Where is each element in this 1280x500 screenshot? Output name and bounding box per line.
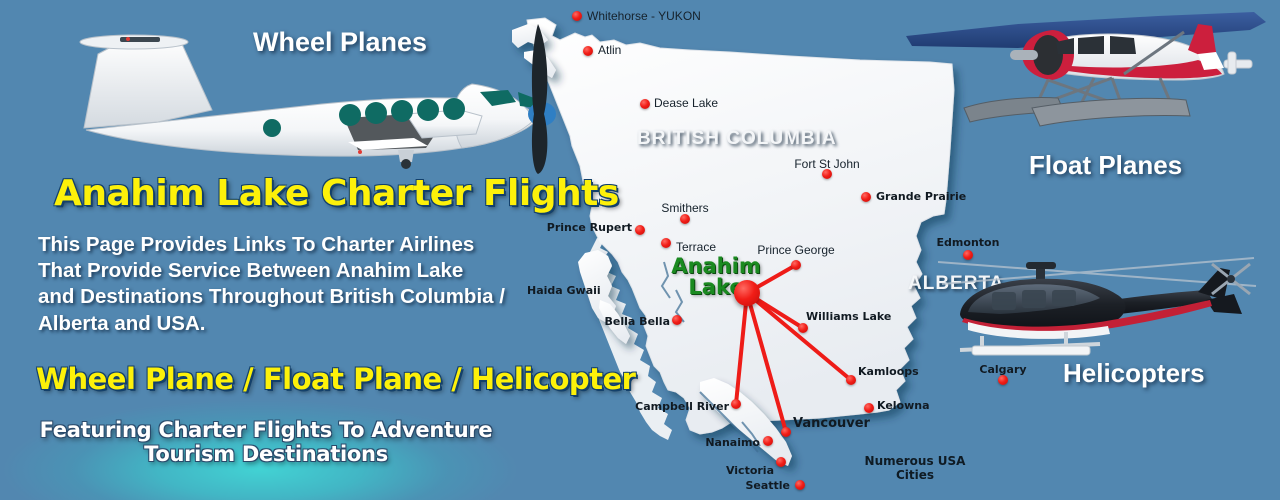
tagline-line-1: Featuring Charter Flights To Adventure <box>30 418 502 442</box>
prop-spinner <box>1010 50 1038 60</box>
hub-label-line1: Anahim <box>668 256 764 277</box>
city-label-atlin: Atlin <box>598 43 621 57</box>
city-label-smithers: Smithers <box>630 201 740 215</box>
city-dot-calgary[interactable] <box>998 375 1008 385</box>
city-label-vancouver: Vancouver <box>793 416 870 431</box>
city-label-kelowna: Kelowna <box>877 399 930 412</box>
city-label-kamloops: Kamloops <box>858 365 919 378</box>
city-dot-prince-rupert[interactable] <box>635 225 645 235</box>
header-banner: BRITISH COLUMBIA ALBERTA Whitehorse - YU… <box>0 0 1280 500</box>
city-dot-vancouver[interactable] <box>781 427 791 437</box>
propeller <box>532 24 547 174</box>
city-dot-smithers[interactable] <box>680 214 690 224</box>
tagline: Featuring Charter Flights To Adventure T… <box>30 418 502 467</box>
city-dot-campbell-river[interactable] <box>731 399 741 409</box>
float-plane-icon <box>898 8 1280 140</box>
page-subtitle: This Page Provides Links To Charter Airl… <box>38 232 608 337</box>
city-label-fort-st-john: Fort St John <box>770 157 884 171</box>
city-dot-grande-prairie[interactable] <box>861 192 871 202</box>
tagline-line-2: Tourism Destinations <box>30 442 502 466</box>
helicopters-label: Helicopters <box>1063 358 1205 389</box>
city-label-williams-lake: Williams Lake <box>806 310 891 323</box>
city-dot-victoria[interactable] <box>776 457 786 467</box>
city-dot-kamloops[interactable] <box>846 375 856 385</box>
page-title: Anahim Lake Charter Flights <box>54 173 619 214</box>
city-dot-dease-lake[interactable] <box>640 99 650 109</box>
city-label-seattle: Seattle <box>710 479 790 492</box>
subtitle-line-4: Alberta and USA. <box>38 311 608 337</box>
aircraft-types-heading: Wheel Plane / Float Plane / Helicopter <box>36 362 635 396</box>
city-label-campbell-river: Campbell River <box>629 400 729 413</box>
province-label-british-columbia: BRITISH COLUMBIA <box>637 128 837 150</box>
float-planes-label: Float Planes <box>1029 150 1182 181</box>
city-label-grande-prairie: Grande Prairie <box>876 190 966 203</box>
city-dot-nanaimo[interactable] <box>763 436 773 446</box>
helicopter-icon <box>938 240 1258 370</box>
city-dot-prince-george[interactable] <box>791 260 801 270</box>
usa-cities-note: Numerous USA Cities <box>855 455 975 483</box>
city-label-whitehorse: Whitehorse - YUKON <box>587 9 701 23</box>
city-dot-terrace[interactable] <box>661 238 671 248</box>
city-label-terrace: Terrace <box>676 240 716 254</box>
city-label-nanaimo: Nanaimo <box>680 436 760 449</box>
city-dot-kelowna[interactable] <box>864 403 874 413</box>
usa-cities-note-line2: Cities <box>855 469 975 483</box>
wheel-planes-label: Wheel Planes <box>253 27 427 58</box>
city-label-dease-lake: Dease Lake <box>654 96 718 110</box>
usa-cities-note-line1: Numerous USA <box>855 455 975 469</box>
subtitle-line-2: That Provide Service Between Anahim Lake <box>38 258 608 284</box>
city-dot-seattle[interactable] <box>795 480 805 490</box>
subtitle-line-3: and Destinations Throughout British Colu… <box>38 284 608 310</box>
city-dot-atlin[interactable] <box>583 46 593 56</box>
city-dot-williams-lake[interactable] <box>798 323 808 333</box>
tail-stabilizer <box>1206 294 1242 314</box>
hub-dot-anahim-lake[interactable] <box>734 280 760 306</box>
city-dot-whitehorse[interactable] <box>572 11 582 21</box>
subtitle-line-1: This Page Provides Links To Charter Airl… <box>38 232 608 258</box>
city-label-victoria: Victoria <box>700 464 774 477</box>
city-dot-bella-bella[interactable] <box>672 315 682 325</box>
